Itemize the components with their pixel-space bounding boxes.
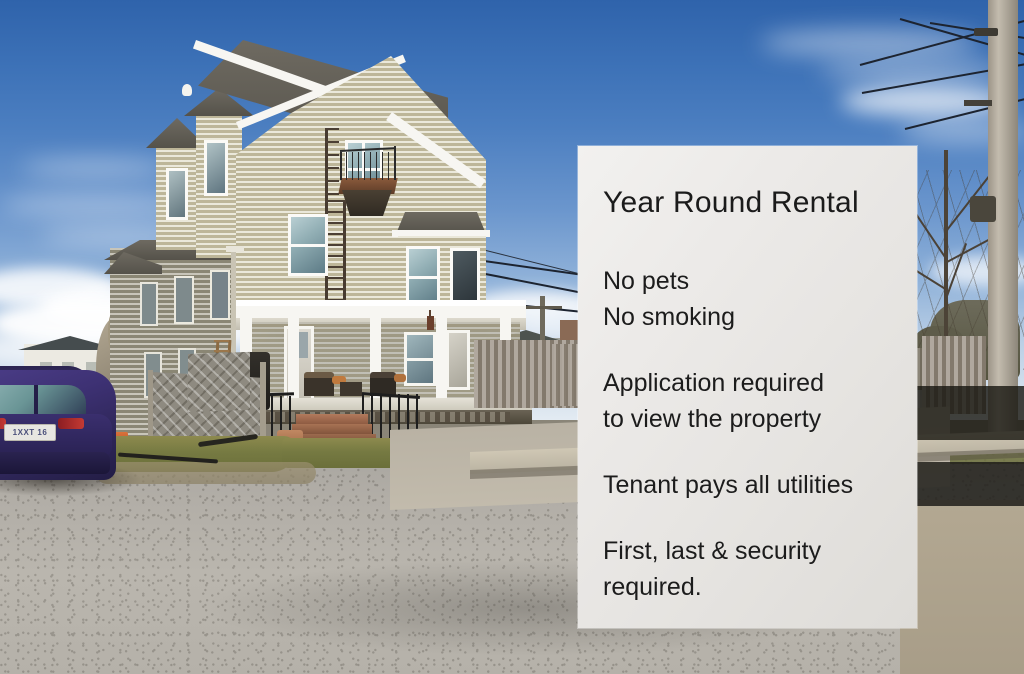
panel-title: Year Round Rental xyxy=(603,186,917,219)
panel-block-utilities: Tenant pays all utilities xyxy=(603,467,917,503)
panel-line: to view the property xyxy=(603,401,917,437)
listing-photo-stage: 1XXT 16 Year Round Rental No pets No smo… xyxy=(0,0,1024,674)
panel-block-deposit: First, last & security required. xyxy=(603,533,917,605)
patio-chair-seat xyxy=(304,378,334,396)
lantern-hook xyxy=(429,310,431,318)
window-muntin xyxy=(404,358,436,361)
car-taillight xyxy=(58,418,84,429)
panel-block-pets-smoking: No pets No smoking xyxy=(603,263,917,335)
window-muntin xyxy=(288,244,328,247)
pole-transformer xyxy=(970,196,996,222)
dormer-window xyxy=(204,140,228,196)
balcony-balusters xyxy=(340,152,396,180)
porch-fascia xyxy=(236,300,526,306)
cloud xyxy=(760,30,980,56)
panel-block-application: Application required to view the propert… xyxy=(603,365,917,437)
lattice-fence-panel xyxy=(188,352,250,412)
roof-finial xyxy=(182,84,192,96)
fire-escape-rungs xyxy=(325,128,339,202)
rental-info-panel: Year Round Rental No pets No smoking App… xyxy=(578,146,917,628)
pole-hardware xyxy=(964,100,992,106)
patio-table xyxy=(340,382,362,396)
panel-line: Application required xyxy=(603,365,917,401)
porch-door xyxy=(446,330,470,390)
cloud xyxy=(20,160,170,176)
pole-hardware xyxy=(974,28,998,36)
dirt-shoulder xyxy=(900,500,1024,674)
shadow-area xyxy=(900,462,1024,506)
panel-line: First, last & security xyxy=(603,533,917,569)
fire-escape-rungs xyxy=(325,200,346,314)
utility-crossarm xyxy=(524,306,562,309)
panel-line: required. xyxy=(603,569,917,605)
bay-window-pane xyxy=(450,248,480,308)
dormer-window xyxy=(166,168,188,220)
patio-cushion xyxy=(394,374,406,382)
panel-line: No pets xyxy=(603,263,917,299)
fence-post xyxy=(148,370,153,446)
shadow-area xyxy=(900,386,1024,440)
panel-line: Tenant pays all utilities xyxy=(603,467,917,503)
brick-step xyxy=(292,424,372,434)
panel-line: No smoking xyxy=(603,299,917,335)
window xyxy=(210,270,230,320)
porch-column xyxy=(436,312,447,404)
gutter xyxy=(226,246,244,252)
license-plate: 1XXT 16 xyxy=(4,424,56,441)
fence-post xyxy=(260,362,266,446)
window xyxy=(140,282,158,326)
porch-lantern xyxy=(427,316,434,330)
brick-step xyxy=(296,414,368,424)
window xyxy=(174,276,194,324)
window-muntin xyxy=(406,276,440,279)
car-bumper xyxy=(0,452,110,474)
